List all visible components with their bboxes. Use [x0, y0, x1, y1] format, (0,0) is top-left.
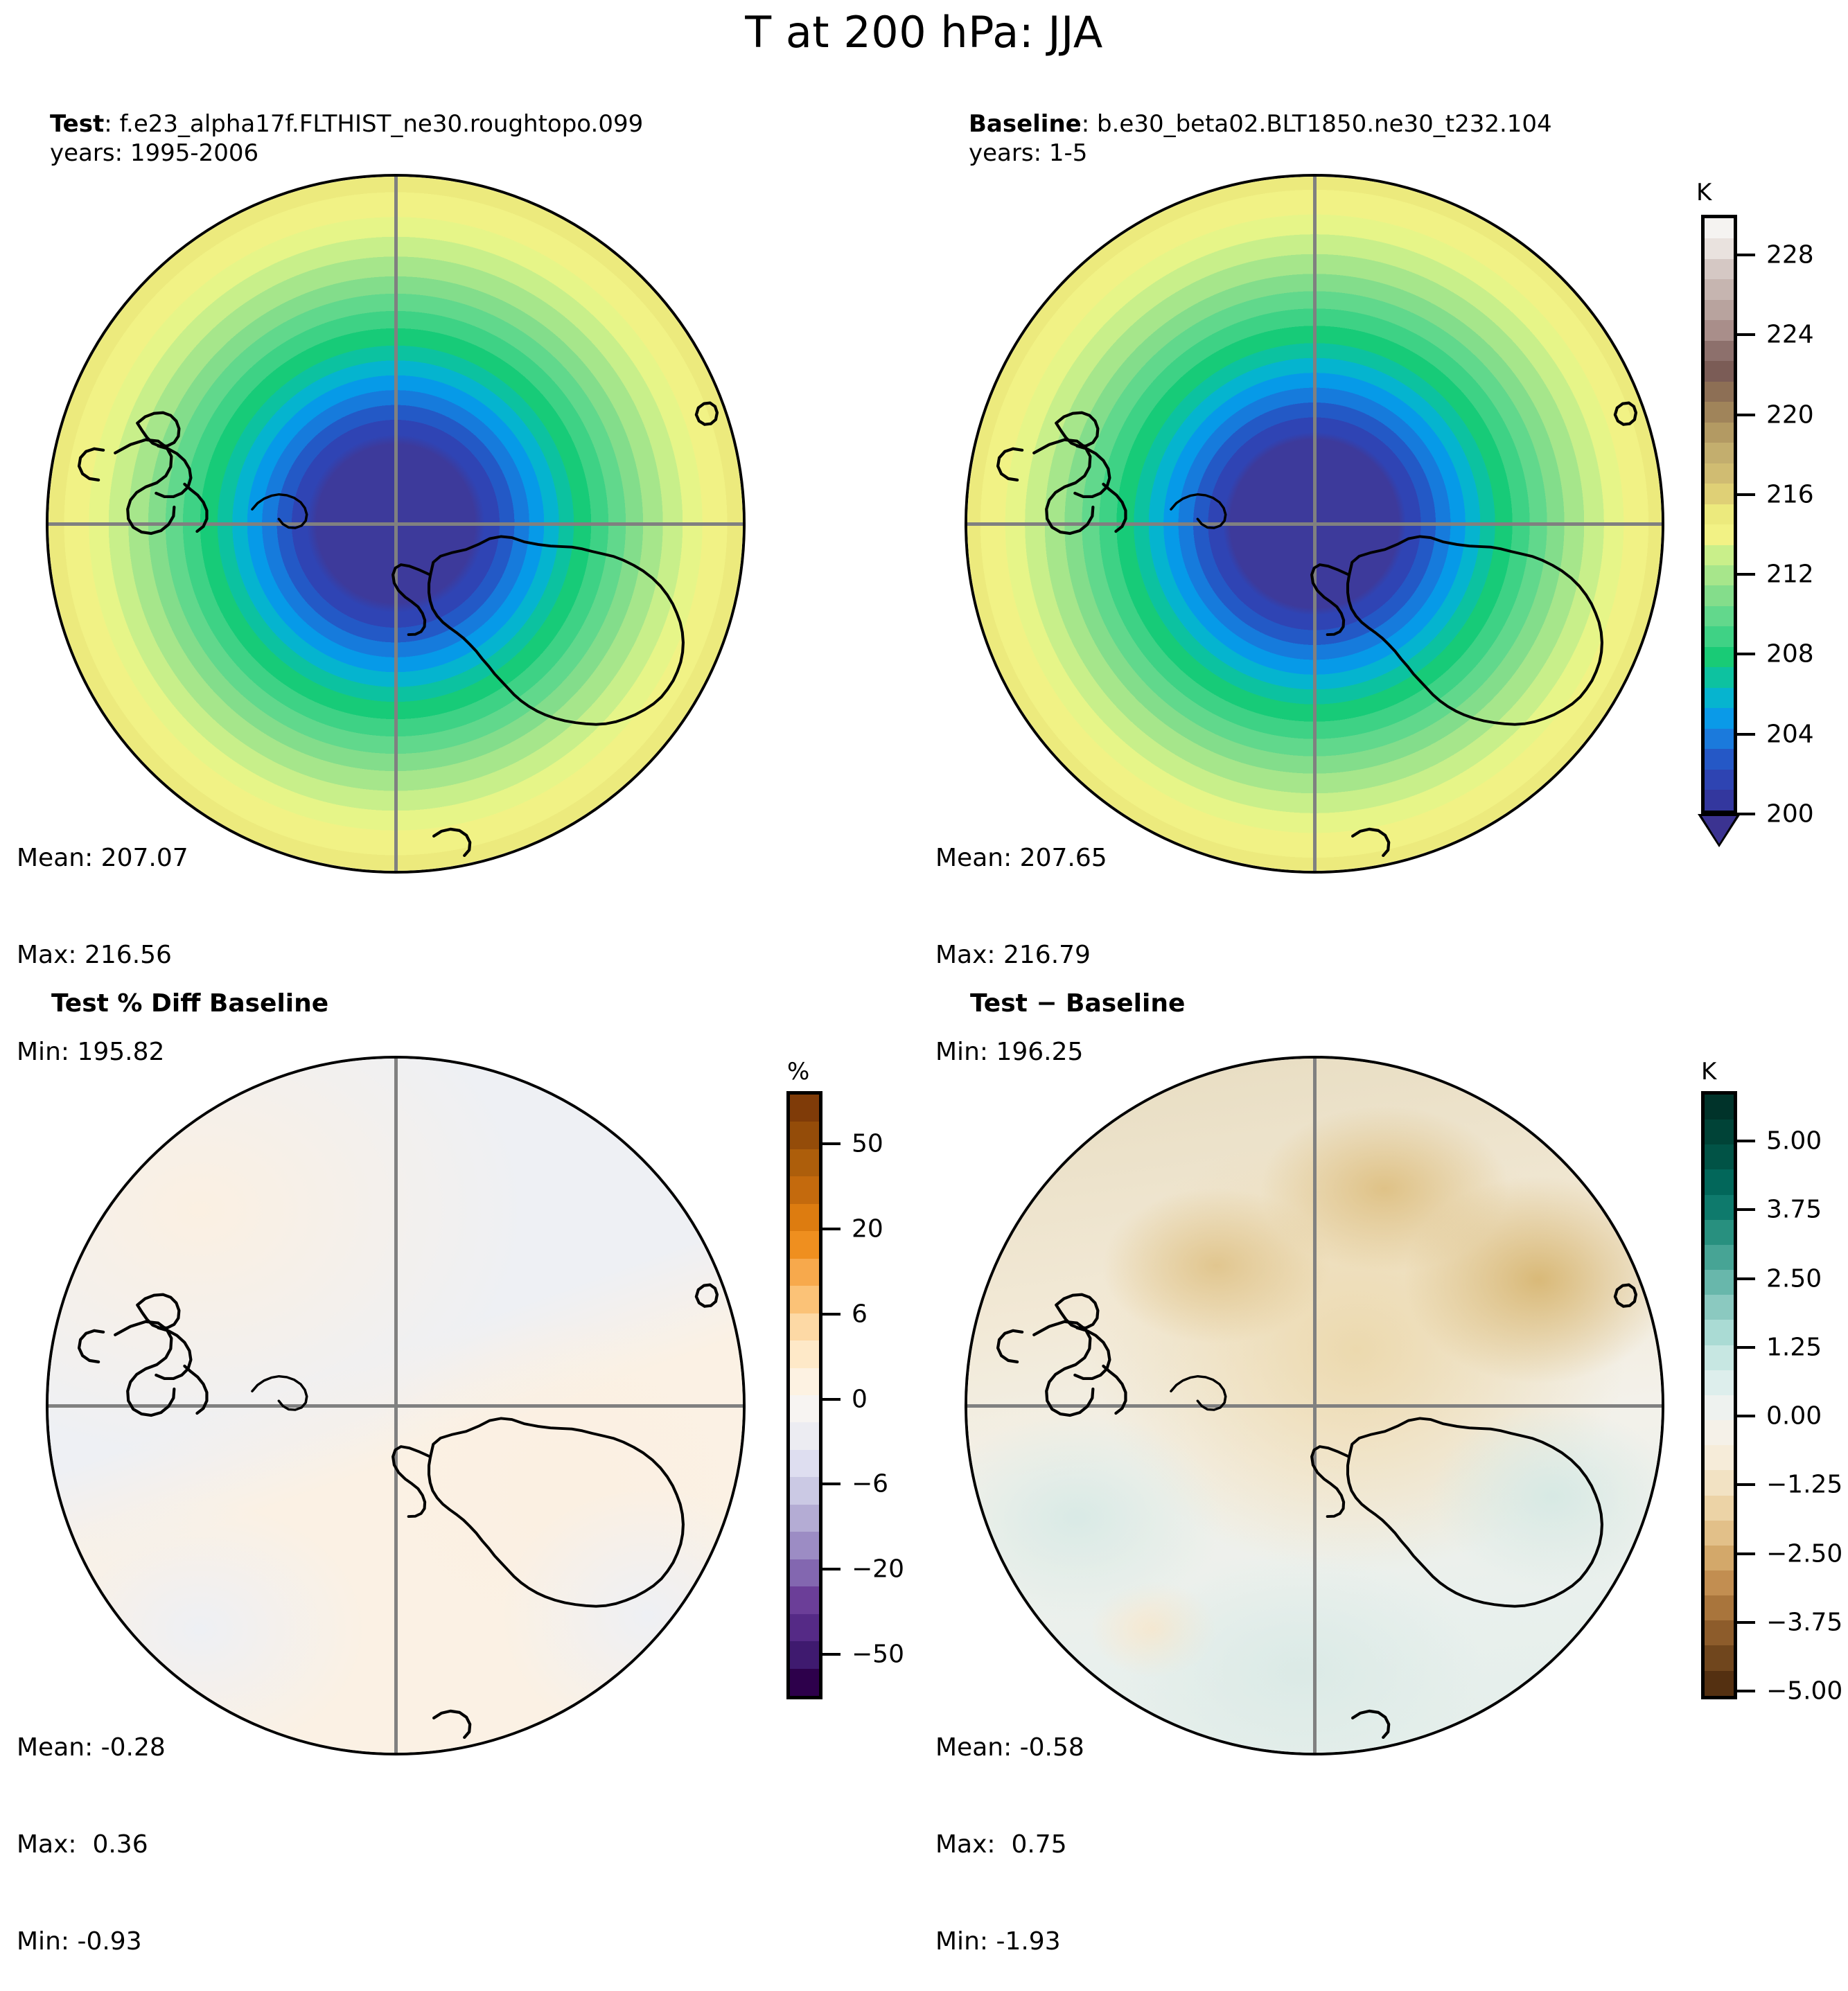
- colorbar-tick: [1737, 653, 1755, 655]
- colorbar-segment: [790, 1422, 819, 1449]
- colorbar-segment: [790, 1286, 819, 1313]
- colorbar-tick-label: −2.50: [1766, 1539, 1842, 1568]
- map-test[interactable]: [46, 174, 746, 874]
- colorbar-segment: [1705, 729, 1734, 749]
- colorbar-segment: [790, 1395, 819, 1422]
- colorbar-segment: [790, 1204, 819, 1231]
- diff-colorbar-unit: K: [1701, 1058, 1716, 1086]
- colorbar-tick: [1737, 573, 1755, 576]
- colorbar-segment: [1705, 1445, 1734, 1470]
- colorbar-tick-label: 216: [1766, 480, 1814, 508]
- colorbar-tick: [1737, 1208, 1755, 1211]
- colorbar-tick-label: 0: [852, 1385, 868, 1413]
- colorbar-segment: [790, 1231, 819, 1258]
- colorbar-segment: [1705, 790, 1734, 810]
- test-case-name: f.e23_alpha17f.FLTHIST_ne30.roughtopo.09…: [120, 110, 644, 138]
- colorbar-segment: [1705, 1496, 1734, 1521]
- colorbar-tick: [1737, 1483, 1755, 1486]
- colorbar-tick-label: 200: [1766, 800, 1814, 829]
- colorbar-tick: [1737, 1140, 1755, 1142]
- test-label: Test: [50, 110, 104, 138]
- test-panel-header: Test: f.e23_alpha17f.FLTHIST_ne30.rought…: [50, 109, 643, 140]
- colorbar-tick-label: 212: [1766, 560, 1814, 589]
- colorbar-tick: [1737, 1346, 1755, 1349]
- colorbar-segment: [790, 1340, 819, 1368]
- baseline-panel-header: Baseline: b.e30_beta02.BLT1850.ne30_t232…: [969, 109, 1552, 140]
- colorbar-tick-label: 20: [852, 1214, 883, 1243]
- colorbar-segment: [790, 1532, 819, 1559]
- colorbar-tick: [822, 1313, 841, 1316]
- pct-diff-stat-max: Max: 0.36: [17, 1829, 166, 1861]
- colorbar-segment: [1705, 238, 1734, 258]
- colorbar-segment: [1705, 688, 1734, 708]
- baseline-stats: Mean: 207.65 Max: 216.79 Min: 196.25: [935, 777, 1107, 1101]
- figure-title: T at 200 hPa: JJA: [0, 7, 1848, 57]
- test-stats: Mean: 207.07 Max: 216.56 Min: 195.82: [17, 777, 188, 1101]
- colorbar-segment: [1705, 749, 1734, 769]
- colorbar-tick: [1737, 813, 1755, 815]
- colorbar-segment: [1705, 545, 1734, 565]
- colorbar-tick: [1737, 1277, 1755, 1280]
- colorbar-segment: [1705, 300, 1734, 320]
- colorbar-segment: [1705, 484, 1734, 504]
- baseline-label: Baseline: [969, 110, 1082, 138]
- colorbar-segment: [1705, 320, 1734, 340]
- colorbar-segment: [1705, 585, 1734, 605]
- colorbar-segment: [1705, 1270, 1734, 1295]
- colorbar-segment: [1705, 606, 1734, 626]
- test-stat-mean: Mean: 207.07: [17, 842, 188, 875]
- colorbar-segment: [1705, 1570, 1734, 1595]
- colorbar-tick: [1737, 1621, 1755, 1624]
- colorbar-segment: [1705, 770, 1734, 790]
- colorbar-segment: [1705, 667, 1734, 687]
- colorbar-segment: [1705, 1169, 1734, 1194]
- colorbar-segment: [1705, 1345, 1734, 1370]
- colorbar-segment: [1705, 1645, 1734, 1670]
- pct-diff-title: Test % Diff Baseline: [51, 989, 328, 1018]
- colorbar-tick-label: 220: [1766, 400, 1814, 429]
- colorbar-tick: [1737, 414, 1755, 416]
- diff-stat-min: Min: -1.93: [935, 1926, 1084, 1958]
- colorbar-segment: [790, 1586, 819, 1613]
- colorbar-tick: [822, 1483, 841, 1485]
- pct-diff-stat-mean: Mean: -0.28: [17, 1732, 166, 1764]
- colorbar-segment: [1705, 259, 1734, 279]
- baseline-years: years: 1-5: [969, 139, 1087, 169]
- diff-colorbar[interactable]: [1701, 1091, 1737, 1699]
- main-colorbar-extend-arrow: [1698, 814, 1741, 847]
- baseline-case-name: b.e30_beta02.BLT1850.ne30_t232.104: [1097, 110, 1552, 138]
- colorbar-tick-label: −6: [852, 1470, 888, 1498]
- colorbar-segment: [790, 1122, 819, 1149]
- colorbar-tick-label: 228: [1766, 241, 1814, 269]
- colorbar-segment: [1705, 423, 1734, 443]
- colorbar-segment: [1705, 1220, 1734, 1245]
- colorbar-segment: [790, 1313, 819, 1340]
- colorbar-segment: [790, 1669, 819, 1696]
- colorbar-segment: [790, 1505, 819, 1532]
- colorbar-tick: [822, 1142, 841, 1145]
- colorbar-segment: [790, 1149, 819, 1176]
- colorbar-tick-label: 208: [1766, 640, 1814, 669]
- map-diff[interactable]: [965, 1056, 1664, 1755]
- pct-diff-stats: Mean: -0.28 Max: 0.36 Min: -0.93: [17, 1667, 166, 1991]
- colorbar-segment: [1705, 382, 1734, 402]
- colorbar-segment: [1705, 1420, 1734, 1445]
- colorbar-segment: [1705, 1095, 1734, 1120]
- colorbar-tick: [1737, 1690, 1755, 1692]
- colorbar-tick: [1737, 254, 1755, 256]
- colorbar-segment: [1705, 1195, 1734, 1220]
- map-pct-diff[interactable]: [46, 1056, 746, 1755]
- colorbar-segment: [1705, 647, 1734, 667]
- colorbar-segment: [1705, 1395, 1734, 1420]
- colorbar-segment: [1705, 1320, 1734, 1345]
- diff-title: Test − Baseline: [970, 989, 1185, 1018]
- test-years: years: 1995-2006: [50, 139, 258, 169]
- colorbar-tick-label: 0.00: [1766, 1402, 1822, 1431]
- colorbar-segment: [1705, 1671, 1734, 1696]
- map-baseline[interactable]: [965, 174, 1664, 874]
- antarctica-coastline: [967, 1059, 1662, 1753]
- colorbar-segment: [790, 1368, 819, 1395]
- colorbar-segment: [1705, 565, 1734, 585]
- colorbar-segment: [790, 1176, 819, 1203]
- colorbar-tick-label: 6: [852, 1300, 868, 1328]
- colorbar-segment: [1705, 1295, 1734, 1320]
- colorbar-segment: [1705, 1595, 1734, 1620]
- colorbar-segment: [1705, 1546, 1734, 1570]
- colorbar-segment: [1705, 1620, 1734, 1645]
- colorbar-tick-label: 3.75: [1766, 1196, 1822, 1224]
- colorbar-segment: [1705, 402, 1734, 422]
- main-colorbar-arrow-fill: [1702, 816, 1736, 844]
- colorbar-segment: [790, 1477, 819, 1504]
- colorbar-tick: [1737, 333, 1755, 336]
- colorbar-segment: [790, 1641, 819, 1668]
- colorbar-tick: [822, 1228, 841, 1230]
- colorbar-segment: [1705, 504, 1734, 524]
- colorbar-segment: [1705, 443, 1734, 463]
- colorbar-segment: [1705, 341, 1734, 361]
- antarctica-coastline: [967, 177, 1662, 871]
- colorbar-segment: [790, 1259, 819, 1286]
- diff-stat-mean: Mean: -0.58: [935, 1732, 1084, 1764]
- colorbar-tick: [822, 1653, 841, 1656]
- baseline-stat-max: Max: 216.79: [935, 939, 1107, 972]
- diff-stat-max: Max: 0.75: [935, 1829, 1084, 1861]
- colorbar-segment: [1705, 218, 1734, 238]
- colorbar-tick-label: −3.75: [1766, 1608, 1842, 1636]
- colorbar-tick: [1737, 733, 1755, 736]
- test-stat-max: Max: 216.56: [17, 939, 188, 972]
- colorbar-tick-label: −5.00: [1766, 1677, 1842, 1706]
- main-colorbar[interactable]: [1701, 215, 1737, 814]
- diff-stats: Mean: -0.58 Max: 0.75 Min: -1.93: [935, 1667, 1084, 1991]
- baseline-stat-mean: Mean: 207.65: [935, 842, 1107, 875]
- colorbar-tick-label: −1.25: [1766, 1471, 1842, 1499]
- pct-diff-stat-min: Min: -0.93: [17, 1926, 166, 1958]
- colorbar-segment: [1705, 1370, 1734, 1395]
- colorbar-segment: [1705, 1470, 1734, 1495]
- colorbar-segment: [1705, 1521, 1734, 1546]
- colorbar-tick-label: 5.00: [1766, 1127, 1822, 1156]
- colorbar-segment: [790, 1095, 819, 1122]
- pct-colorbar-unit: %: [787, 1058, 809, 1086]
- antarctica-coastline: [49, 1059, 743, 1753]
- colorbar-tick-label: 204: [1766, 720, 1814, 748]
- colorbar-tick-label: −50: [852, 1640, 904, 1669]
- colorbar-tick-label: 50: [852, 1130, 883, 1158]
- colorbar-segment: [1705, 708, 1734, 728]
- baseline-separator: :: [1082, 110, 1089, 138]
- test-separator: :: [104, 110, 112, 138]
- colorbar-tick: [822, 1398, 841, 1401]
- colorbar-segment: [790, 1614, 819, 1641]
- colorbar-segment: [1705, 524, 1734, 545]
- colorbar-segment: [1705, 279, 1734, 299]
- colorbar-tick: [822, 1568, 841, 1570]
- colorbar-segment: [1705, 1120, 1734, 1144]
- colorbar-tick-label: 1.25: [1766, 1333, 1822, 1361]
- colorbar-segment: [790, 1559, 819, 1586]
- colorbar-tick-label: 224: [1766, 321, 1814, 349]
- colorbar-segment: [1705, 1144, 1734, 1169]
- colorbar-segment: [790, 1450, 819, 1477]
- colorbar-tick-label: −20: [852, 1555, 904, 1584]
- colorbar-tick: [1737, 1552, 1755, 1555]
- antarctica-coastline: [49, 177, 743, 871]
- colorbar-tick-label: 2.50: [1766, 1264, 1822, 1293]
- colorbar-tick: [1737, 493, 1755, 496]
- colorbar-segment: [1705, 361, 1734, 381]
- main-colorbar-unit: K: [1696, 179, 1711, 206]
- colorbar-segment: [1705, 1245, 1734, 1270]
- colorbar-tick: [1737, 1415, 1755, 1417]
- colorbar-segment: [1705, 463, 1734, 484]
- colorbar-segment: [1705, 626, 1734, 646]
- pct-colorbar[interactable]: [786, 1091, 822, 1699]
